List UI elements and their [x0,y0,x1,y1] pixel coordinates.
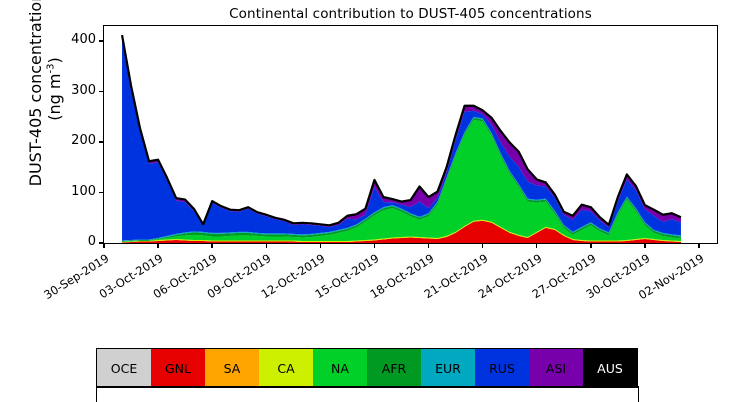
y-tick-label: 100 [71,184,96,199]
legend-item-label: NA [331,361,349,376]
legend-item-label: EUR [435,361,461,376]
x-tick-mark [103,244,105,248]
x-tick-mark [536,244,538,248]
chart-title: Continental contribution to DUST-405 con… [103,6,718,22]
y-tick-label: 0 [88,234,96,249]
legend-item-eur[interactable]: EUR [421,349,475,387]
area-band-asi [122,35,681,227]
x-tick-mark [320,244,322,248]
legend-item-oce[interactable]: OCE [97,349,151,387]
y-axis-label-units: (ng m-3) [45,57,64,120]
x-tick-mark [428,244,430,248]
legend-item-ca[interactable]: CA [259,349,313,387]
legend-item-label: AUS [597,361,623,376]
legend-item-rus[interactable]: RUS [475,349,529,387]
secondary-axis-line [96,386,639,387]
x-tick-mark [590,244,592,248]
plot-area [103,25,718,244]
legend-item-label: AFR [382,361,406,376]
legend-item-label: RUS [489,361,515,376]
x-tick-mark [266,244,268,248]
x-tick-mark [698,244,700,248]
legend-item-afr[interactable]: AFR [367,349,421,387]
x-tick-mark [644,244,646,248]
area-band-aus [122,35,681,225]
legend-item-aus[interactable]: AUS [583,349,637,387]
legend: OCEGNLSACANAAFREURRUSASIAUS [96,348,638,388]
secondary-axis-right-spine [638,386,639,402]
total-outline [122,35,681,225]
legend-item-sa[interactable]: SA [205,349,259,387]
legend-item-label: SA [224,361,241,376]
secondary-axis-partial [96,386,639,402]
y-tick-label: 200 [71,133,96,148]
x-tick-mark [374,244,376,248]
chart-page: Continental contribution to DUST-405 con… [0,0,730,402]
legend-item-na[interactable]: NA [313,349,367,387]
legend-item-label: GNL [165,361,191,376]
y-tick-label: 300 [71,83,96,98]
legend-item-label: CA [277,361,294,376]
x-tick-mark [211,244,213,248]
y-tick-label: 400 [71,32,96,47]
legend-item-asi[interactable]: ASI [529,349,583,387]
stacked-area-svg [104,26,717,243]
secondary-axis-left-spine [96,386,97,402]
y-axis-label-line1: DUST-405 concentration [26,0,45,186]
x-tick-mark [482,244,484,248]
x-tick-mark [157,244,159,248]
legend-item-label: OCE [111,361,137,376]
legend-item-label: ASI [546,361,566,376]
legend-item-gnl[interactable]: GNL [151,349,205,387]
